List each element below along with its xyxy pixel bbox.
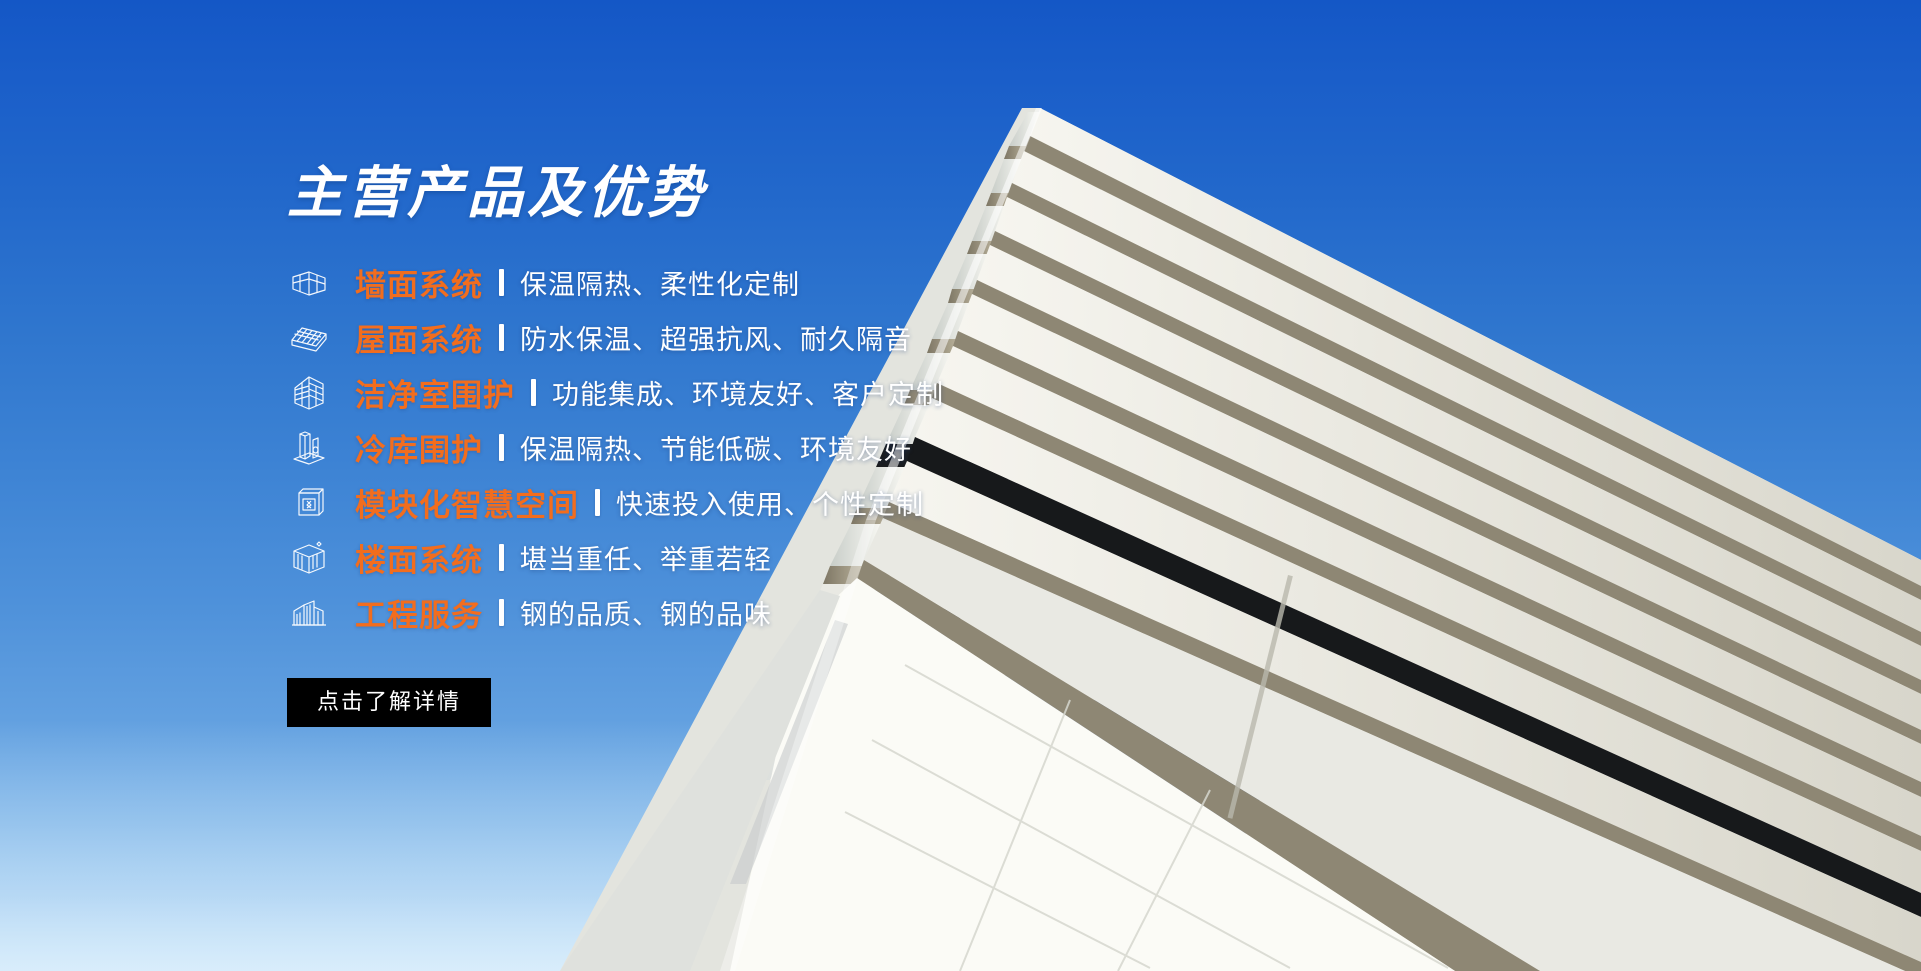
- floor-deck-module-icon: [287, 536, 331, 580]
- separator-bar: [499, 434, 504, 461]
- list-item[interactable]: 模块化智慧空间 快速投入使用、个性定制: [287, 475, 1187, 530]
- feature-name: 冷库围护: [355, 425, 483, 470]
- modular-space-cube-icon: [287, 481, 331, 525]
- list-item[interactable]: 工程服务 钢的品质、钢的品味: [287, 585, 1187, 640]
- feature-name: 工程服务: [355, 590, 483, 635]
- product-feature-list: 墙面系统 保温隔热、柔性化定制: [287, 255, 1187, 640]
- feature-name: 墙面系统: [355, 260, 483, 305]
- page-title: 主营产品及优势: [287, 165, 1187, 221]
- separator-bar: [531, 379, 536, 406]
- feature-desc: 保温隔热、节能低碳、环境友好: [520, 428, 912, 467]
- list-item[interactable]: 楼面系统 堪当重任、举重若轻: [287, 530, 1187, 585]
- feature-name: 楼面系统: [355, 535, 483, 580]
- separator-bar: [499, 599, 504, 626]
- separator-bar: [499, 324, 504, 351]
- feature-desc: 堪当重任、举重若轻: [520, 538, 772, 577]
- cold-storage-icon: [287, 426, 331, 470]
- hero-content: 主营产品及优势 墙面系统 保温隔热、柔性化定制: [287, 165, 1187, 727]
- feature-desc: 保温隔热、柔性化定制: [520, 263, 800, 302]
- list-item[interactable]: 墙面系统 保温隔热、柔性化定制: [287, 255, 1187, 310]
- feature-name: 屋面系统: [355, 315, 483, 360]
- learn-more-button[interactable]: 点击了解详情: [287, 678, 491, 727]
- wall-panel-icon: [287, 261, 331, 305]
- feature-desc: 防水保温、超强抗风、耐久隔音: [520, 318, 912, 357]
- list-item[interactable]: 冷库围护 保温隔热、节能低碳、环境友好: [287, 420, 1187, 475]
- engineering-service-icon: [287, 591, 331, 635]
- feature-desc: 功能集成、环境友好、客户定制: [552, 373, 944, 412]
- roof-panel-icon: [287, 316, 331, 360]
- feature-name: 洁净室围护: [355, 370, 515, 415]
- sky-haze-overlay: [0, 721, 1921, 971]
- list-item[interactable]: 屋面系统 防水保温、超强抗风、耐久隔音: [287, 310, 1187, 365]
- separator-bar: [499, 269, 504, 296]
- list-item[interactable]: 洁净室围护 功能集成、环境友好、客户定制: [287, 365, 1187, 420]
- hero-banner: 主营产品及优势 墙面系统 保温隔热、柔性化定制: [0, 0, 1921, 971]
- feature-desc: 钢的品质、钢的品味: [520, 593, 772, 632]
- feature-desc: 快速投入使用、个性定制: [616, 483, 924, 522]
- separator-bar: [595, 489, 600, 516]
- separator-bar: [499, 544, 504, 571]
- cleanroom-building-icon: [287, 371, 331, 415]
- feature-name: 模块化智慧空间: [355, 480, 579, 525]
